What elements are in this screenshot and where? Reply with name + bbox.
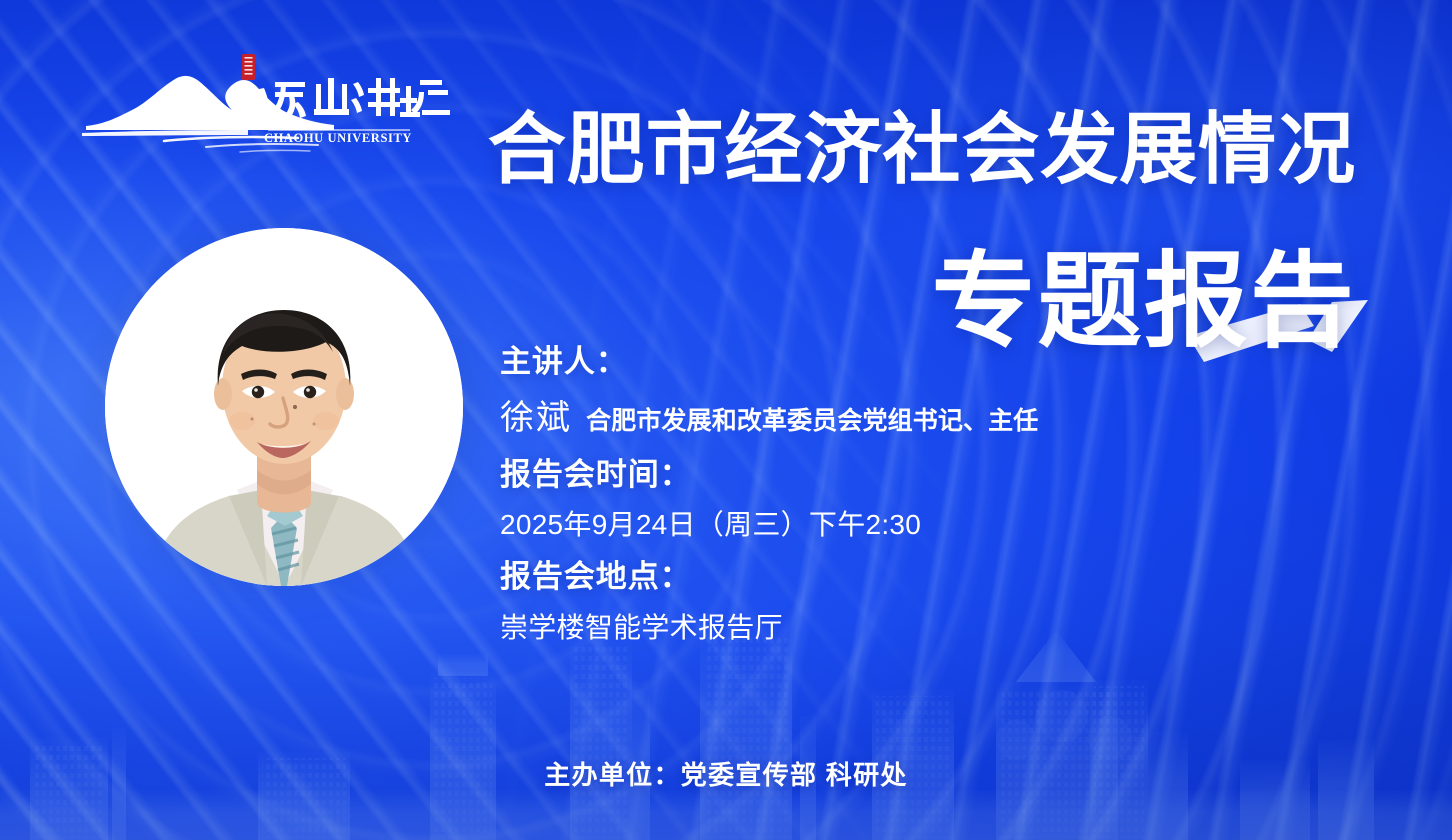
speaker-title: 合肥市发展和改革委员会党组书记、主任 [586, 401, 1038, 437]
place-block: 报告会地点： 崇学楼智能学术报告厅 [500, 557, 1280, 646]
speaker-label: 主讲人： [500, 342, 1280, 382]
speaker-portrait [105, 228, 463, 586]
place-value: 崇学楼智能学术报告厅 [500, 606, 1280, 646]
svg-text:CHAOHU UNIVERSITY: CHAOHU UNIVERSITY [264, 131, 412, 145]
poster-canvas: CHAOHU UNIVERSITY [0, 0, 1452, 840]
time-label: 报告会时间： [500, 455, 1280, 495]
speaker-name: 徐斌 [500, 390, 572, 439]
speaker-block: 主讲人： 徐斌 合肥市发展和改革委员会党组书记、主任 [500, 342, 1280, 439]
logo-wordmark-en: CHAOHU UNIVERSITY [264, 130, 412, 145]
time-block: 报告会时间： 2025年9月24日（周三）下午2:30 [500, 455, 1280, 544]
time-value: 2025年9月24日（周三）下午2:30 [500, 503, 1280, 543]
chaohu-university-logo: CHAOHU UNIVERSITY [72, 52, 412, 148]
page-title-line1: 合肥市经济社会发展情况 [488, 110, 1356, 188]
place-label: 报告会地点： [500, 557, 1280, 597]
organizer-footer: 主办单位：党委宣传部 科研处 [0, 755, 1452, 792]
page-title-line2: 专题报告 [932, 250, 1356, 354]
event-details: 主讲人： 徐斌 合肥市发展和改革委员会党组书记、主任 报告会时间： 2025年9… [500, 342, 1280, 660]
seal-icon [242, 54, 255, 80]
